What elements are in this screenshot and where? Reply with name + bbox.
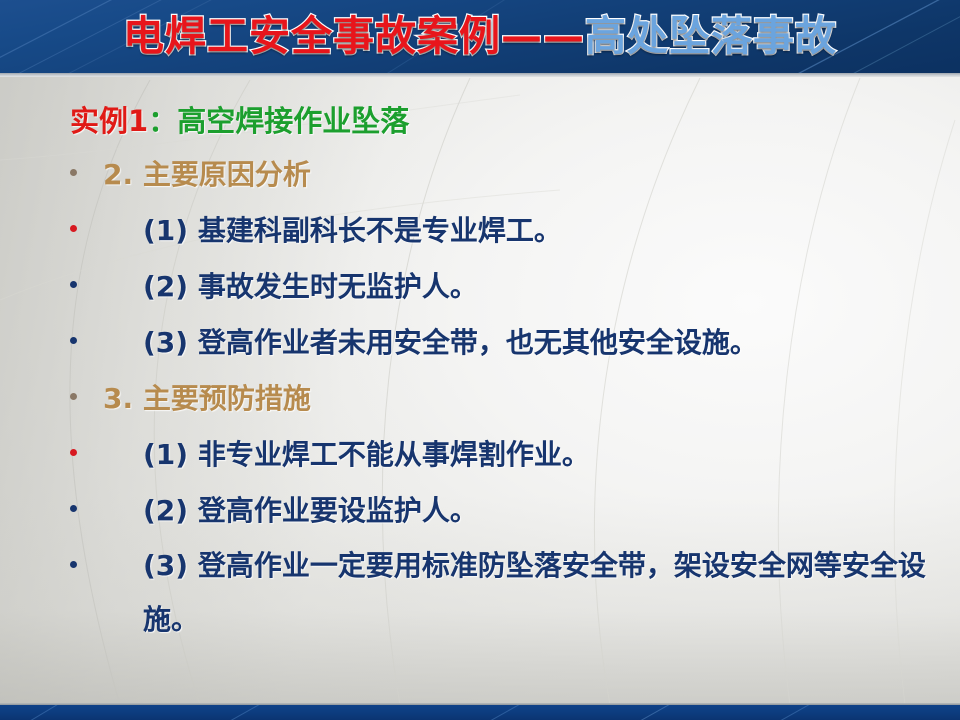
list-item: 2. 主要原因分析 xyxy=(0,147,960,203)
list-item: 3. 主要预防措施 xyxy=(0,371,960,427)
slide-content: 实例1：高空焊接作业坠落 2. 主要原因分析 (1) 基建科副科长不是专业焊工。… xyxy=(0,73,960,705)
list-item-label: 3. 主要预防措施 xyxy=(103,371,311,427)
slide-title-blue-part: 高处坠落事故 xyxy=(585,12,837,60)
list-item-label: (2) 事故发生时无监护人。 xyxy=(143,259,478,315)
list-item: (1) 非专业焊工不能从事焊割作业。 xyxy=(0,427,960,483)
bullet-dot-icon xyxy=(70,449,77,456)
slide-header-band: 电焊工安全事故案例——高处坠落事故 xyxy=(0,0,960,73)
example-heading-text: ：高空焊接作业坠落 xyxy=(148,104,409,138)
bullet-dot-icon xyxy=(70,337,77,344)
bullet-dot-icon xyxy=(70,225,77,232)
bullet-dot-icon xyxy=(70,393,77,400)
list-item-label: 2. 主要原因分析 xyxy=(103,147,311,203)
example-heading: 实例1：高空焊接作业坠落 xyxy=(70,98,409,140)
presentation-slide: 电焊工安全事故案例——高处坠落事故 实例1：高空焊接作业坠落 2. 主要原因分析… xyxy=(0,0,960,720)
bullet-dot-icon xyxy=(70,169,77,176)
slide-title: 电焊工安全事故案例——高处坠落事故 xyxy=(0,3,960,69)
example-heading-label: 实例1 xyxy=(70,104,148,138)
bullet-dot-icon xyxy=(70,561,77,568)
list-item-label: (1) 基建科副科长不是专业焊工。 xyxy=(143,203,562,259)
list-item-label: (1) 非专业焊工不能从事焊割作业。 xyxy=(143,427,590,483)
list-item: (3) 登高作业者未用安全带，也无其他安全设施。 xyxy=(0,315,960,371)
list-item: (3) 登高作业一定要用标准防坠落安全带，架设安全网等安全设施。 xyxy=(0,539,960,647)
list-item-label: (3) 登高作业者未用安全带，也无其他安全设施。 xyxy=(143,315,758,371)
slide-footer-band xyxy=(0,705,960,720)
list-item: (1) 基建科副科长不是专业焊工。 xyxy=(0,203,960,259)
list-item-label: (2) 登高作业要设监护人。 xyxy=(143,483,478,539)
bullet-dot-icon xyxy=(70,281,77,288)
slide-title-red-part: 电焊工安全事故案例—— xyxy=(123,12,585,60)
list-item-label: (3) 登高作业一定要用标准防坠落安全带，架设安全网等安全设施。 xyxy=(143,539,953,647)
bullet-dot-icon xyxy=(70,505,77,512)
bullet-list: 2. 主要原因分析 (1) 基建科副科长不是专业焊工。 (2) 事故发生时无监护… xyxy=(0,147,960,647)
list-item: (2) 登高作业要设监护人。 xyxy=(0,483,960,539)
footer-streak-decoration xyxy=(0,705,960,720)
list-item: (2) 事故发生时无监护人。 xyxy=(0,259,960,315)
